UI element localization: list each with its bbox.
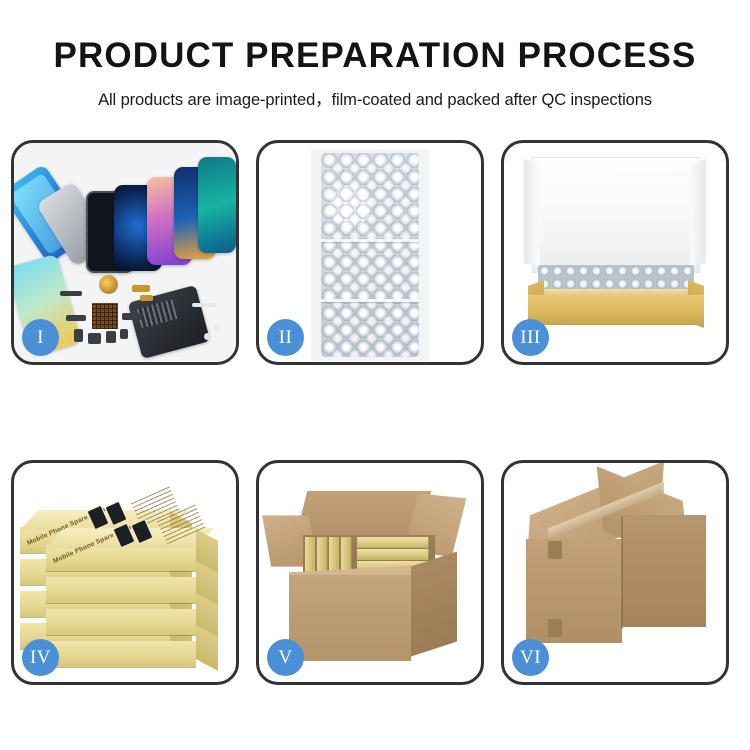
wrap-seam <box>321 239 419 242</box>
step-panel-iv: Mobile Phone Spare Parts Mobile Phone Sp… <box>11 460 239 685</box>
mailer-box-interior <box>544 199 688 265</box>
bubble-wrap-sleeve <box>321 153 419 357</box>
carton-edge-seam <box>621 517 623 629</box>
speaker-mesh-part <box>60 291 82 296</box>
taptic-engine-part <box>88 333 101 344</box>
step-badge-vi: VI <box>512 639 549 676</box>
product-preparation-infographic: PRODUCT PREPARATION PROCESS All products… <box>0 0 750 750</box>
bubble-pattern-overlay <box>329 161 419 357</box>
page-subtitle: All products are image-printed，film-coat… <box>0 76 750 110</box>
carton-right-panel <box>622 515 706 627</box>
step-badge-ii: II <box>267 319 304 356</box>
packed-retail-box <box>357 549 429 560</box>
step-vi-image: VI <box>504 463 726 682</box>
process-steps-grid: I II <box>11 140 739 685</box>
connector-part <box>120 329 128 339</box>
step-panel-iii: III <box>501 140 729 365</box>
step-iv-image: Mobile Phone Spare Parts Mobile Phone Sp… <box>14 463 236 682</box>
step-panel-v: V <box>256 460 484 685</box>
page-title: PRODUCT PREPARATION PROCESS <box>0 0 750 76</box>
wrap-seam <box>321 299 419 302</box>
screw-part <box>214 325 220 331</box>
antenna-flex-part <box>66 315 86 321</box>
step-badge-iii: III <box>512 319 549 356</box>
retail-box <box>46 609 196 635</box>
flex-cable-part <box>132 285 150 292</box>
mailer-lid-flap-left <box>524 159 540 267</box>
sim-tray-part <box>74 329 83 342</box>
step-badge-iv: IV <box>22 639 59 676</box>
carton-hand-hole <box>548 619 562 637</box>
power-button-flex-part <box>140 295 153 301</box>
ic-chip-part <box>92 303 118 329</box>
step-panel-ii: II <box>256 140 484 365</box>
mailer-box-front <box>528 295 704 325</box>
camera-flex-part <box>122 313 142 320</box>
carton-side-panel <box>411 552 457 657</box>
step-i-image: I <box>14 143 236 362</box>
step-panel-vi: VI <box>501 460 729 685</box>
carton-front-panel <box>526 539 622 643</box>
camera-module-part <box>106 331 116 343</box>
step-badge-i: I <box>22 319 59 356</box>
step-panel-i: I <box>11 140 239 365</box>
step-badge-v: V <box>267 639 304 676</box>
tweezers-tool <box>192 303 216 307</box>
packed-retail-box <box>357 537 429 548</box>
step-iii-image: III <box>504 143 726 362</box>
carton-hand-hole <box>548 541 562 559</box>
vibration-motor-part <box>99 275 118 294</box>
step-ii-image: II <box>259 143 481 362</box>
phone-display-teal <box>198 157 236 253</box>
retail-box <box>46 641 196 667</box>
step-v-image: V <box>259 463 481 682</box>
mailer-lid-flap-right <box>690 159 706 267</box>
carton-front-panel <box>289 575 411 661</box>
retail-box <box>46 577 196 603</box>
screw-part <box>204 333 211 340</box>
header: PRODUCT PREPARATION PROCESS All products… <box>0 0 750 110</box>
